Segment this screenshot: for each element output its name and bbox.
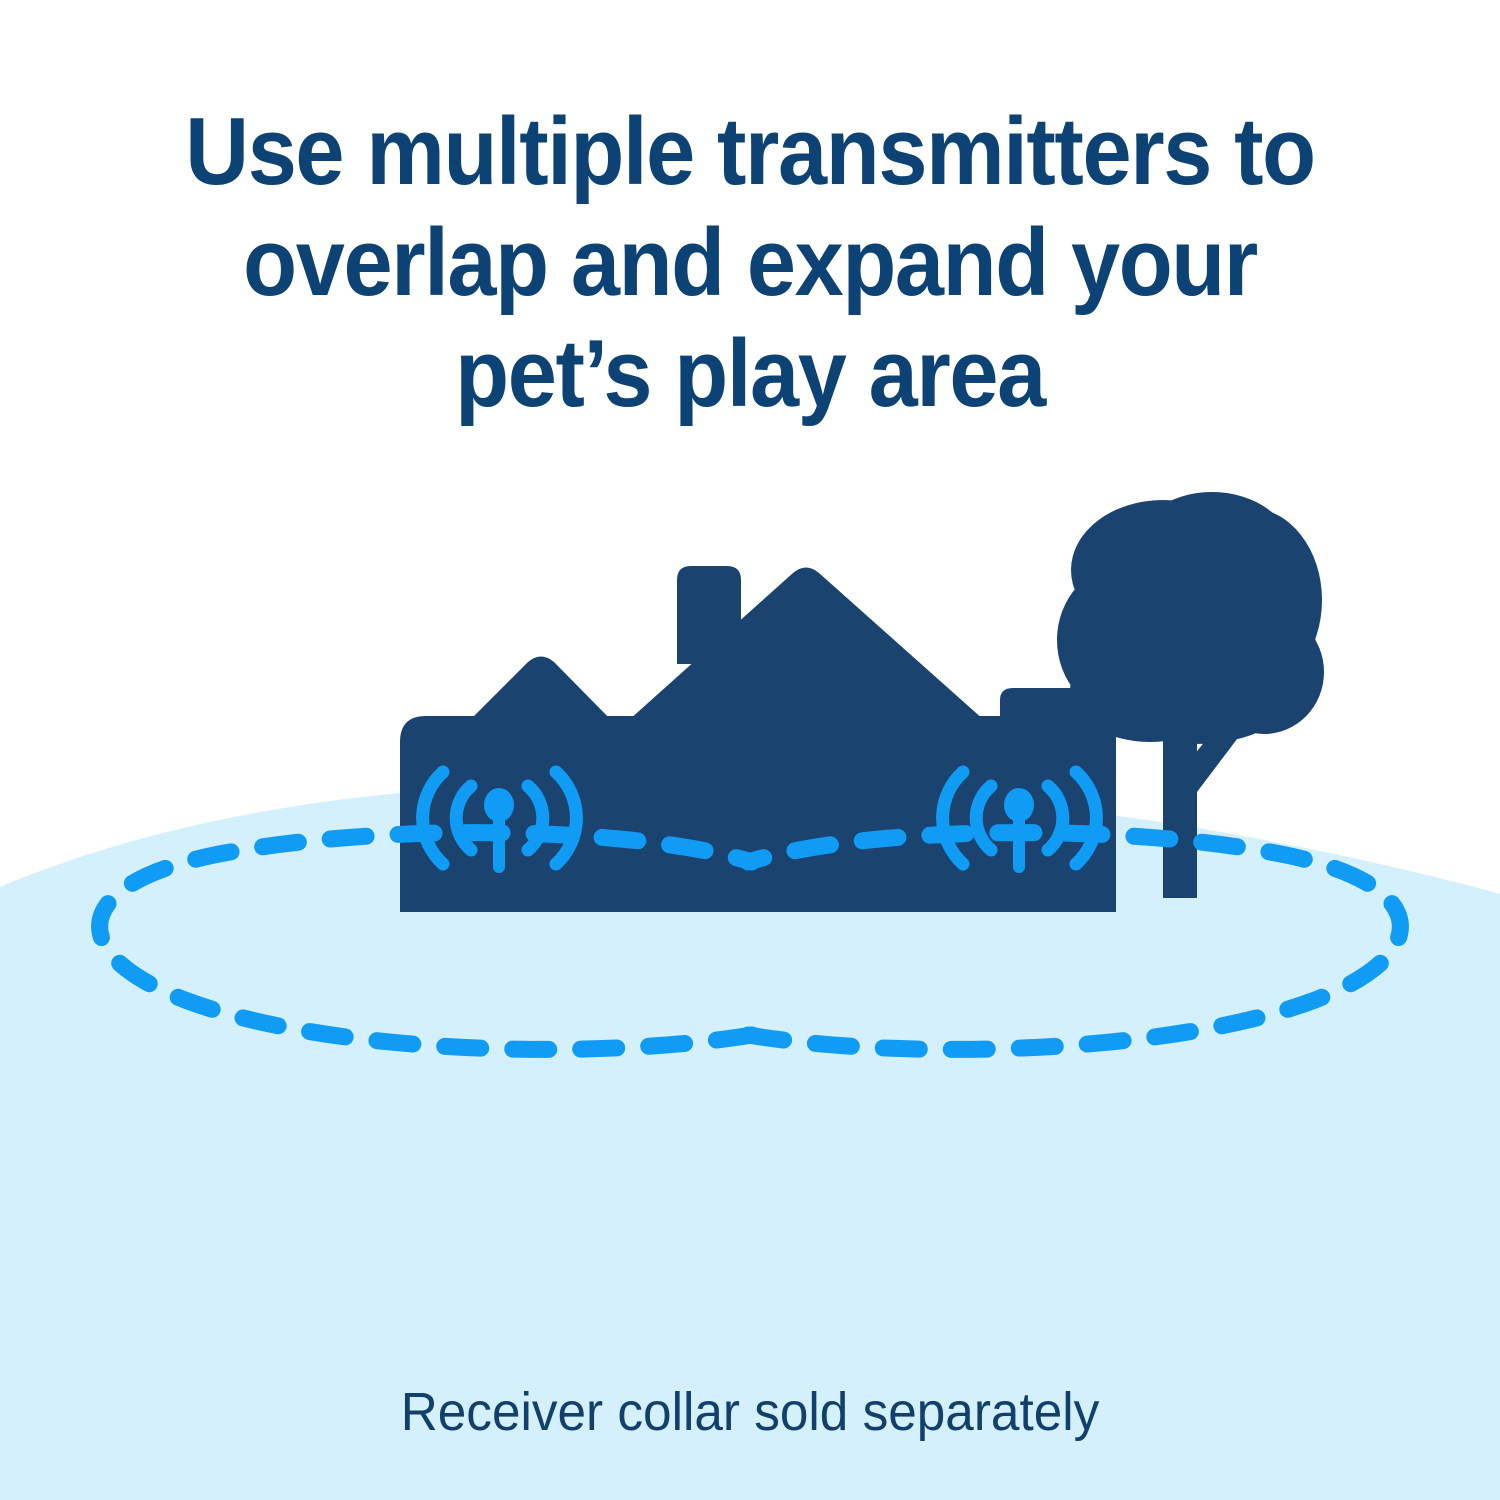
page-title: Use multiple transmitters to overlap and…	[60, 96, 1440, 429]
footnote-text: Receiver collar sold separately	[38, 1382, 1463, 1442]
poster-canvas: Use multiple transmitters to overlap and…	[0, 0, 1500, 1500]
headline-line-2: overlap and expand your	[60, 207, 1440, 318]
headline-line-1: Use multiple transmitters to	[60, 96, 1440, 207]
headline-line-3: pet’s play area	[60, 318, 1440, 429]
